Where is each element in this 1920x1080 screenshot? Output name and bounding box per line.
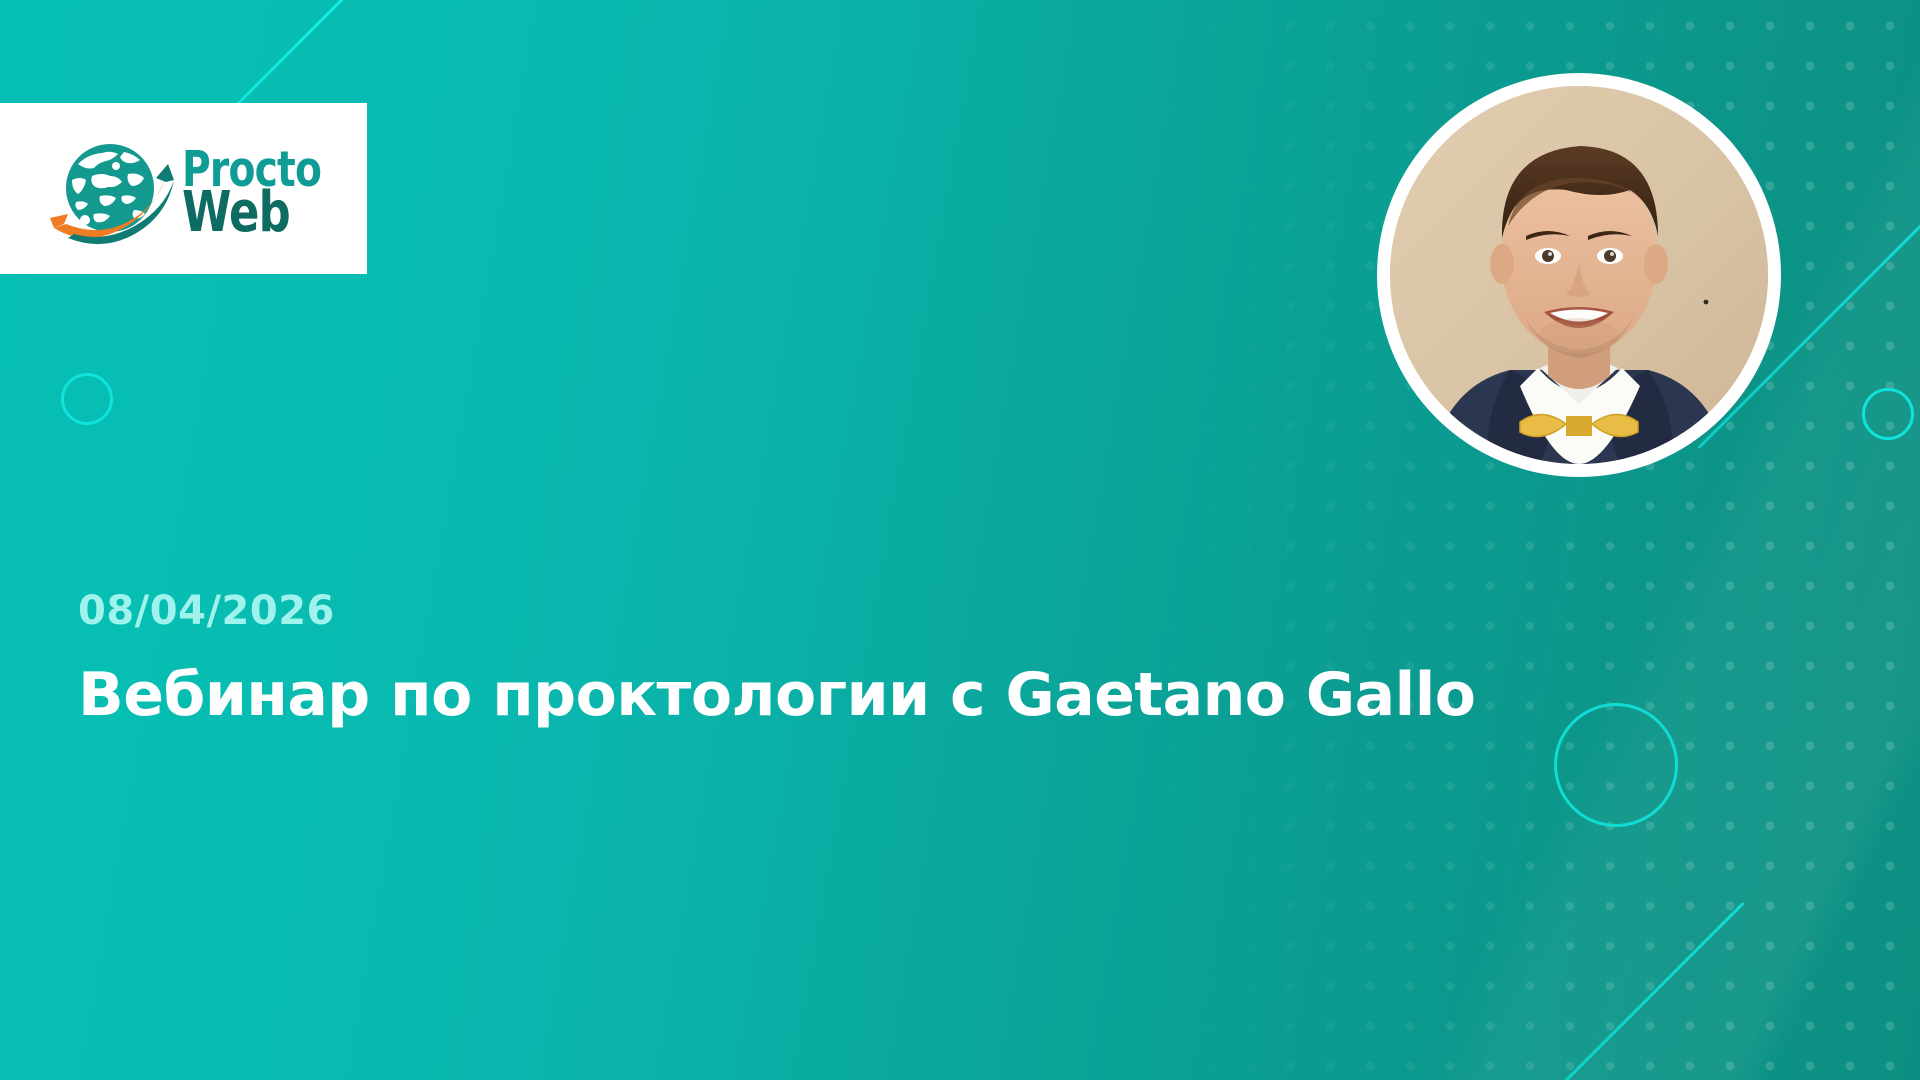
event-title: Вебинар по проктологии с Gaetano Gallo bbox=[78, 660, 1378, 730]
logo-word-web: Web bbox=[182, 191, 321, 235]
event-date: 08/04/2026 bbox=[78, 588, 1378, 634]
diagonal-line-bottom-right-icon bbox=[1438, 902, 1744, 1080]
logo-wordmark: Procto Web bbox=[182, 151, 356, 235]
proctoweb-logo: Procto Web bbox=[48, 132, 356, 250]
webinar-banner: Procto Web bbox=[0, 0, 1920, 1080]
globe-swoosh-icon bbox=[48, 132, 176, 250]
logo-plate[interactable]: Procto Web bbox=[0, 103, 367, 274]
speaker-photo bbox=[1390, 86, 1768, 464]
circle-outline-right-small-icon bbox=[1862, 388, 1914, 440]
event-text-block: 08/04/2026 Вебинар по проктологии с Gaet… bbox=[78, 588, 1378, 730]
circle-outline-large-icon bbox=[1554, 703, 1678, 827]
speaker-avatar bbox=[1377, 73, 1781, 477]
circle-outline-left-icon bbox=[61, 373, 113, 425]
